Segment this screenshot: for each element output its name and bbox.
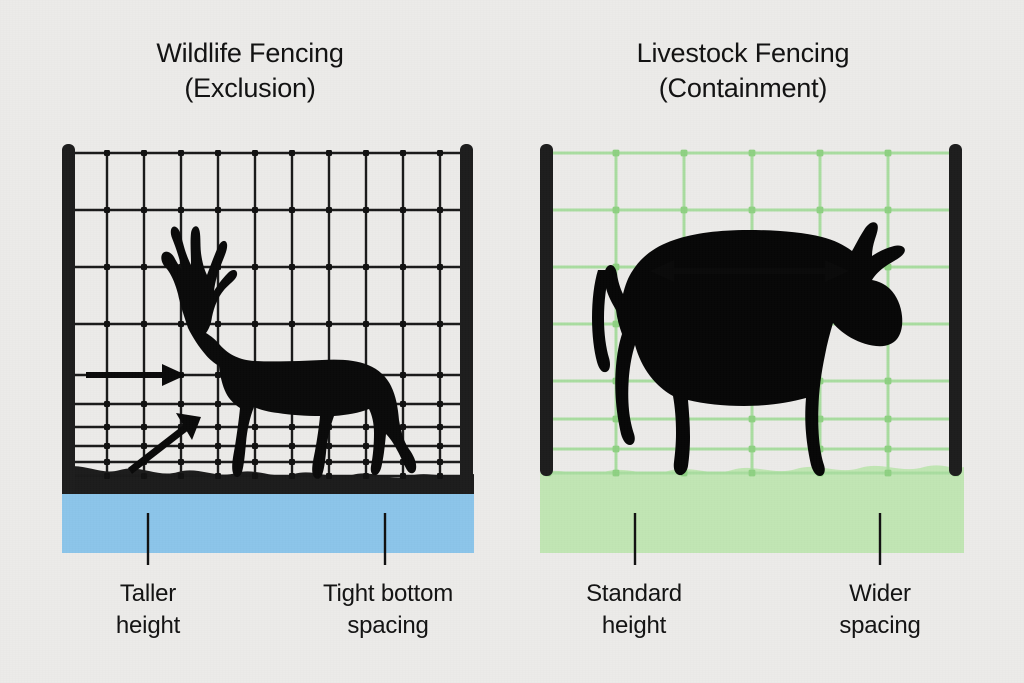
mesh-knots bbox=[67, 150, 473, 479]
cow-silhouette bbox=[592, 222, 905, 476]
fence-post-left bbox=[62, 144, 75, 494]
left-panel-title: Wildlife Fencing (Exclusion) bbox=[40, 36, 460, 105]
wildlife-fence-diagram bbox=[0, 120, 512, 560]
caption-tight-bottom-spacing: Tight bottom spacing bbox=[288, 578, 488, 642]
fence-post-left bbox=[540, 144, 553, 476]
caption-standard-height: Standard height bbox=[540, 578, 728, 642]
infographic-canvas: Wildlife Fencing (Exclusion) Livestock F… bbox=[0, 0, 1024, 683]
caption-taller-height: Taller height bbox=[58, 578, 238, 642]
diagonal-arrow-icon bbox=[128, 413, 201, 474]
caption-wider-spacing: Wider spacing bbox=[790, 578, 970, 642]
right-panel-title: Livestock Fencing (Containment) bbox=[528, 36, 958, 105]
wildlife-mesh bbox=[70, 153, 470, 478]
horizontal-arrow-icon bbox=[86, 364, 186, 386]
fence-post-right bbox=[949, 144, 962, 476]
deer-silhouette bbox=[161, 226, 416, 479]
livestock-fence-diagram bbox=[512, 120, 1024, 560]
fence-post-right bbox=[460, 144, 473, 494]
